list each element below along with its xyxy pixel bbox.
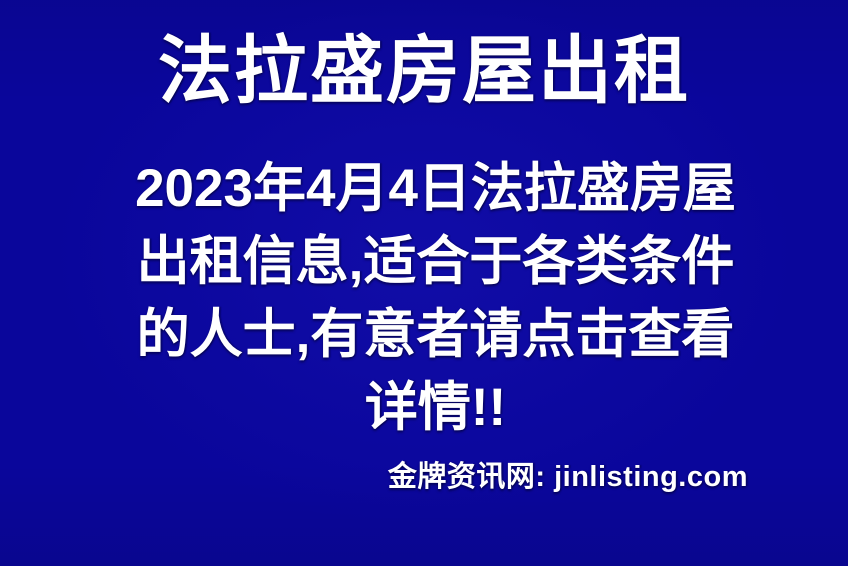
body-text-block: 2023年4月4日法拉盛房屋 出租信息,适合于各类条件 的人士,有意者请点击查看… bbox=[108, 152, 763, 444]
body-line-4: 详情!! bbox=[108, 371, 763, 444]
body-line-2: 出租信息,适合于各类条件 bbox=[108, 225, 763, 298]
promo-poster: 法拉盛房屋出租 2023年4月4日法拉盛房屋 出租信息,适合于各类条件 的人士,… bbox=[0, 0, 848, 566]
site-credit: 金牌资讯网: jinlisting.com bbox=[388, 458, 748, 496]
body-line-3: 的人士,有意者请点击查看 bbox=[108, 298, 763, 371]
body-line-1: 2023年4月4日法拉盛房屋 bbox=[108, 152, 763, 225]
page-title: 法拉盛房屋出租 bbox=[0, 28, 848, 114]
